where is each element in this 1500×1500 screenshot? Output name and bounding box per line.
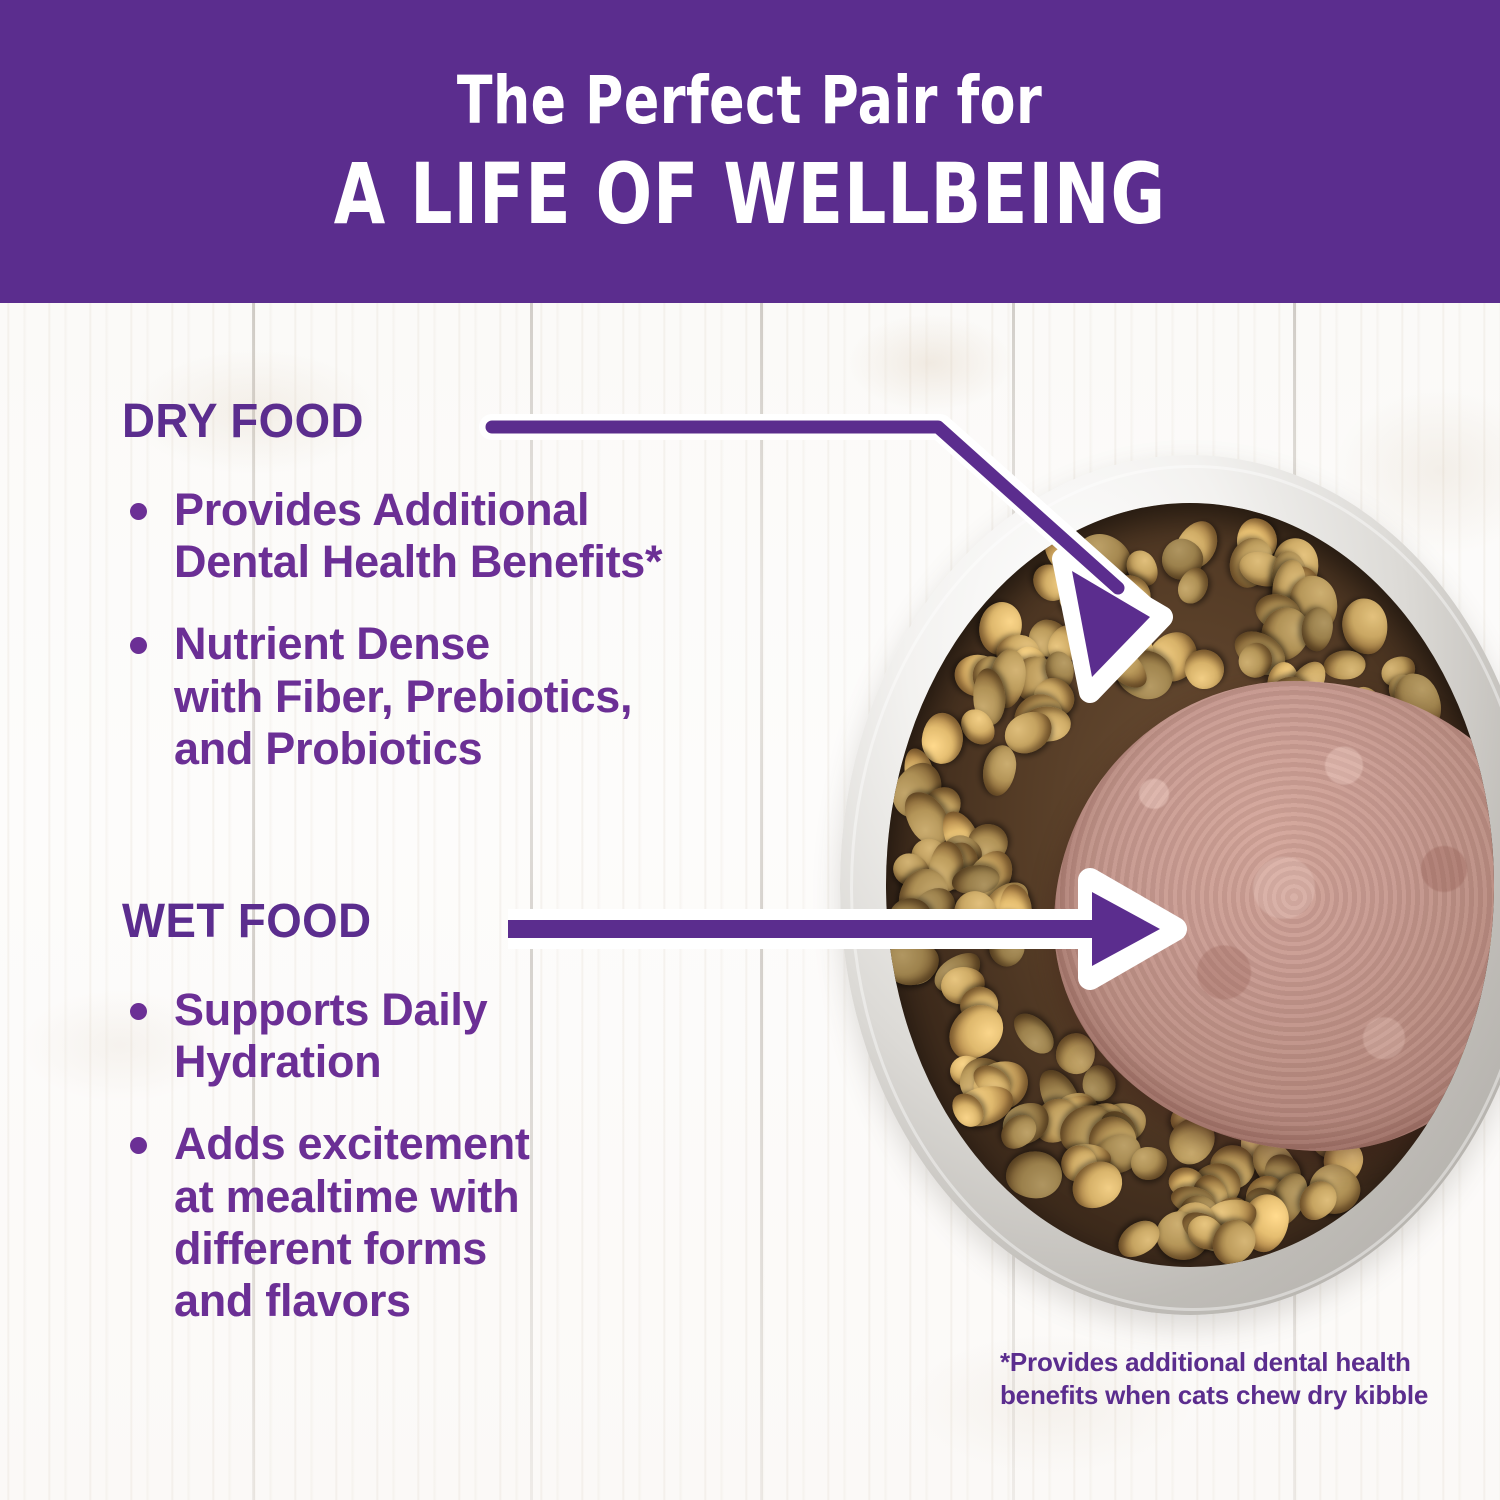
- wet-food-bullet-list: Supports Daily Hydration Adds excitement…: [122, 984, 742, 1357]
- dry-food-label: DRY FOOD: [122, 398, 364, 446]
- list-item: Supports Daily Hydration: [122, 984, 742, 1088]
- poster-canvas: The Perfect Pair for A LIFE OF WELLBEING…: [0, 0, 1500, 1500]
- steel-bowl: [840, 455, 1500, 1315]
- dry-food-bullet-list: Provides Additional Dental Health Benefi…: [122, 484, 812, 805]
- section-heading-wet-food: WET FOOD: [122, 898, 385, 946]
- list-item: Adds excitement at mealtime with differe…: [122, 1118, 742, 1327]
- section-heading-dry-food: DRY FOOD: [122, 398, 377, 446]
- header-title: A LIFE OF WELLBEING: [334, 152, 1166, 236]
- food-bowl-photo: [840, 455, 1500, 1335]
- plank-seam: [760, 303, 763, 1500]
- bowl-rim-highlight: [850, 465, 1500, 1311]
- list-item: Provides Additional Dental Health Benefi…: [122, 484, 812, 588]
- header-subtitle: The Perfect Pair for: [457, 68, 1042, 134]
- footnote-text: *Provides additional dental health benef…: [1000, 1346, 1470, 1411]
- list-item: Nutrient Dense with Fiber, Prebiotics, a…: [122, 618, 812, 775]
- wet-food-label: WET FOOD: [122, 898, 372, 946]
- header-banner: The Perfect Pair for A LIFE OF WELLBEING: [0, 0, 1500, 303]
